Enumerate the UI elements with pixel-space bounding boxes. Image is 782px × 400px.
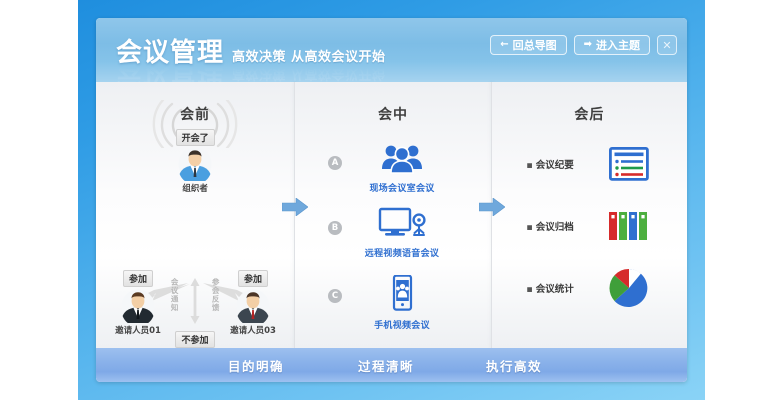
meeting-mode-c-item: 手机视频会议	[346, 275, 458, 331]
meeting-mode-b-label: 远程视频语音会议	[346, 246, 458, 259]
stats-text: 会议统计	[536, 284, 574, 295]
after-item-stats[interactable]: ▪会议统计	[492, 268, 687, 308]
organizer-avatar	[178, 147, 212, 181]
double-arrow-vertical-icon	[190, 278, 200, 324]
step-arrow-1-icon	[282, 198, 308, 216]
bullet-icon: ▪	[526, 160, 532, 171]
after-item-minutes-label: ▪会议纪要	[526, 157, 592, 171]
meeting-mode-b-item: 远程视频语音会议	[346, 207, 458, 259]
footer-cell-3: 执行高效	[486, 356, 542, 375]
badge-b: B	[328, 221, 342, 235]
app-stage: 会议管理 高效决策 从高效会议开始 会议管理 高效决策 从高效会议开始 ← 回总…	[0, 0, 782, 400]
organizer-name: 组织者	[135, 182, 255, 194]
arrow-left-icon: ←	[500, 40, 508, 50]
invitee-03: 参加 邀请人员03	[213, 267, 293, 336]
monitor-camera-icon	[378, 207, 426, 239]
meeting-mode-c[interactable]: C 手机视频会议	[295, 275, 490, 331]
panel-title-during: 会中	[295, 104, 490, 124]
invitee-03-avatar	[236, 289, 270, 323]
back-to-mindmap-button[interactable]: ← 回总导图	[490, 35, 566, 55]
list-document-icon	[609, 147, 649, 181]
page-title: 会议管理	[116, 32, 224, 69]
invitee-01-avatar	[121, 289, 155, 323]
pie-chart-icon	[608, 268, 650, 308]
after-item-stats-label: ▪会议统计	[526, 281, 592, 295]
meeting-mode-b[interactable]: B 远程视频语音会议	[295, 207, 490, 259]
title-block: 会议管理 高效决策 从高效会议开始	[116, 32, 386, 69]
organizer-bubble: 开会了	[176, 129, 215, 146]
bullet-icon: ▪	[526, 222, 532, 233]
panel-title-after: 会后	[492, 104, 687, 124]
bullet-icon: ▪	[526, 284, 532, 295]
binders-icon	[607, 210, 651, 242]
meeting-mode-a[interactable]: A 现场会议室会议	[295, 142, 490, 194]
slide-footer: 目的明确 过程清晰 执行高效	[96, 348, 687, 382]
enter-topic-button[interactable]: ➡ 进入主题	[574, 35, 650, 55]
close-icon[interactable]: ✕	[657, 35, 677, 55]
meeting-mode-a-label: 现场会议室会议	[346, 181, 458, 194]
invitee-02-status: 不参加	[175, 331, 214, 348]
panels-container: 会前	[96, 82, 687, 348]
step-arrow-2-icon	[479, 198, 505, 216]
footer-cell-1: 目的明确	[228, 356, 284, 375]
stats-icon-wrap	[606, 268, 652, 308]
invitee-03-status: 参加	[238, 270, 268, 287]
group-people-icon	[380, 142, 424, 174]
badge-c: C	[328, 289, 342, 303]
panel-after-meeting: 会后 ▪会议纪要	[492, 82, 687, 348]
minutes-text: 会议纪要	[536, 160, 574, 171]
after-item-minutes[interactable]: ▪会议纪要	[492, 144, 687, 184]
slide-header: 会议管理 高效决策 从高效会议开始 会议管理 高效决策 从高效会议开始 ← 回总…	[96, 18, 687, 82]
footer-cell-2: 过程清晰	[358, 356, 414, 375]
meeting-mode-a-item: 现场会议室会议	[346, 142, 458, 194]
archive-icon-wrap	[606, 206, 652, 246]
after-item-archive[interactable]: ▪会议归档	[492, 206, 687, 246]
panel-during-meeting: 会中 A 现场会议室会议	[295, 82, 490, 348]
arrow-right-icon: ➡	[584, 40, 592, 50]
meeting-mode-c-label: 手机视频会议	[346, 318, 458, 331]
invitee-01: 参加 邀请人员01	[98, 267, 178, 336]
archive-text: 会议归档	[536, 222, 574, 233]
invitee-01-status: 参加	[123, 270, 153, 287]
outer-frame: 会议管理 高效决策 从高效会议开始 会议管理 高效决策 从高效会议开始 ← 回总…	[78, 0, 705, 400]
enter-topic-label: 进入主题	[596, 37, 640, 53]
back-to-mindmap-label: 回总导图	[513, 37, 557, 53]
header-buttons: ← 回总导图 ➡ 进入主题 ✕	[490, 35, 677, 55]
minutes-icon-wrap	[606, 144, 652, 184]
page-subtitle: 高效决策 从高效会议开始	[232, 46, 386, 65]
mobile-video-icon	[387, 275, 417, 311]
slide-card: 会议管理 高效决策 从高效会议开始 会议管理 高效决策 从高效会议开始 ← 回总…	[96, 18, 687, 382]
after-item-archive-label: ▪会议归档	[526, 219, 592, 233]
panel-before-meeting: 会前	[96, 82, 294, 348]
organizer-block: 开会了 组织者	[135, 126, 255, 194]
badge-a: A	[328, 156, 342, 170]
